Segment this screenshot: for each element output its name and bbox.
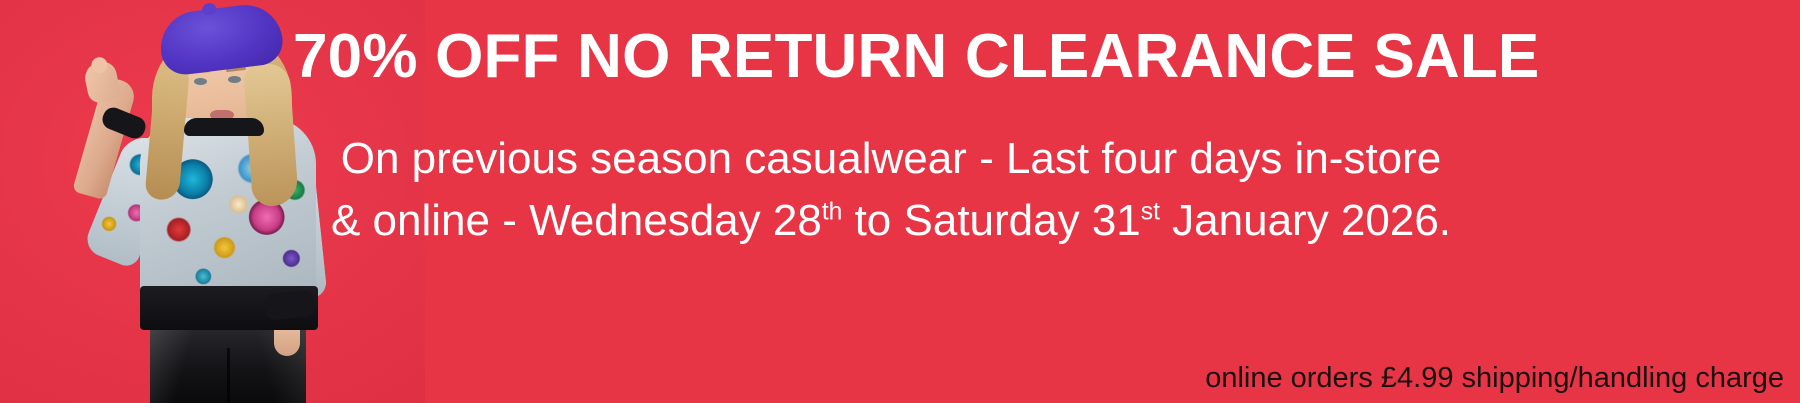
ordinal-suffix-th: th <box>822 198 843 225</box>
hand-left <box>82 59 122 105</box>
headline: 70% OFF NO RETURN CLEARANCE SALE <box>293 24 1788 89</box>
clearance-sale-banner: 70% OFF NO RETURN CLEARANCE SALE On prev… <box>0 0 1800 403</box>
subtitle-line-2-part-2: to Saturday 31 <box>842 196 1140 245</box>
sweater-collar <box>184 118 264 136</box>
cuff-right <box>265 290 315 321</box>
eye-left <box>194 78 207 85</box>
eye-right <box>228 76 241 83</box>
subtitle-line-2-part-1: & online - Wednesday 28 <box>331 196 822 245</box>
shipping-charge-note: online orders £4.99 shipping/handling ch… <box>1205 362 1784 395</box>
ordinal-suffix-st: st <box>1141 198 1160 225</box>
subtitle-line-2-part-3: January 2026. <box>1160 196 1451 245</box>
